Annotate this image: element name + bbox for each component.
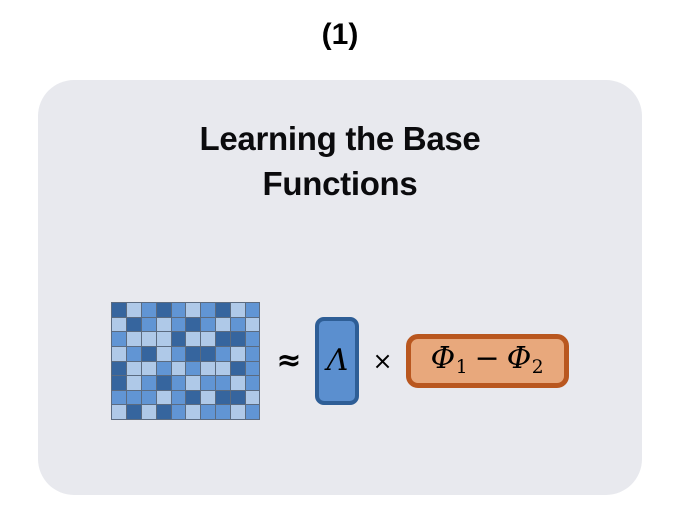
heatmap-cell [142, 347, 156, 361]
heatmap-cell [216, 405, 230, 419]
heatmap-cell [246, 405, 260, 419]
heatmap-cell [172, 362, 186, 376]
heatmap-cell [246, 303, 260, 317]
figure-number-label: (1) [0, 20, 680, 50]
heatmap-cell [142, 332, 156, 346]
heatmap-cell [142, 362, 156, 376]
heatmap-cell [186, 332, 200, 346]
heatmap-cell [142, 391, 156, 405]
heatmap-cell [112, 362, 126, 376]
lambda-matrix-box: Λ [315, 317, 359, 405]
heatmap-cell [127, 303, 141, 317]
heatmap-cell [246, 347, 260, 361]
heatmap-cell [186, 362, 200, 376]
heatmap-cell [112, 318, 126, 332]
heatmap-cell [201, 391, 215, 405]
heatmap-cell [231, 391, 245, 405]
heatmap-cell [172, 318, 186, 332]
heatmap-cell [246, 362, 260, 376]
heatmap-cell [216, 362, 230, 376]
heatmap-cell [172, 405, 186, 419]
heatmap-cell [142, 376, 156, 390]
heatmap-cell [246, 391, 260, 405]
phi-first-symbol: Φ [431, 341, 456, 376]
heatmap-cell [186, 347, 200, 361]
heatmap-cell [142, 318, 156, 332]
heatmap-cell [186, 391, 200, 405]
heatmap-cell [172, 332, 186, 346]
heatmap-cell [246, 376, 260, 390]
heatmap-cell [201, 376, 215, 390]
heatmap-cell [231, 347, 245, 361]
heatmap-cell [201, 405, 215, 419]
panel-title: Learning the Base Functions [38, 117, 642, 206]
heatmap-cell [157, 376, 171, 390]
heatmap-cell [112, 405, 126, 419]
heatmap-cell [127, 347, 141, 361]
panel-title-line-1: Learning the Base [38, 117, 642, 162]
heatmap-cell [246, 318, 260, 332]
heatmap-cell [157, 362, 171, 376]
heatmap-cell [127, 332, 141, 346]
heatmap-cell [246, 332, 260, 346]
factorization-equation: ≈ Λ × Φ1−Φ2 [38, 296, 642, 426]
heatmap-cell [142, 303, 156, 317]
heatmap-cell [201, 347, 215, 361]
heatmap-cell [231, 318, 245, 332]
heatmap-cell [127, 405, 141, 419]
heatmap-cell [216, 347, 230, 361]
phi-basis-box: Φ1−Φ2 [406, 334, 569, 388]
heatmap-cell [186, 318, 200, 332]
heatmap-cell [112, 391, 126, 405]
heatmap-cell [201, 362, 215, 376]
heatmap-cell [186, 405, 200, 419]
minus-icon: − [475, 341, 500, 376]
base-functions-panel: Learning the Base Functions ≈ Λ × Φ1−Φ2 [38, 80, 642, 495]
approximately-equal-icon: ≈ [276, 346, 301, 376]
heatmap-cell [157, 391, 171, 405]
heatmap-cell [112, 376, 126, 390]
heatmap-cell [186, 376, 200, 390]
heatmap-cell [127, 391, 141, 405]
heatmap-cell [157, 347, 171, 361]
heatmap-cell [216, 318, 230, 332]
phi-expression: Φ1−Φ2 [431, 344, 544, 378]
heatmap-cell [127, 318, 141, 332]
heatmap-cell [231, 332, 245, 346]
heatmap-cell [216, 332, 230, 346]
phi-second-symbol: Φ [507, 341, 532, 376]
heatmap-cell [172, 391, 186, 405]
heatmap-cell [112, 303, 126, 317]
heatmap-cell [112, 347, 126, 361]
phi-first-subscript: 1 [456, 357, 468, 378]
heatmap-cell [127, 376, 141, 390]
heatmap-cell [216, 391, 230, 405]
heatmap-cell [157, 303, 171, 317]
heatmap-cell [231, 362, 245, 376]
heatmap-cell [142, 405, 156, 419]
heatmap-cell [157, 318, 171, 332]
heatmap-cell [216, 376, 230, 390]
heatmap-cell [157, 332, 171, 346]
heatmap-cell [172, 376, 186, 390]
phi-second-subscript: 2 [532, 357, 544, 378]
heatmap-cell [231, 303, 245, 317]
heatmap-cell [157, 405, 171, 419]
heatmap-cell [231, 405, 245, 419]
heatmap-cell [172, 303, 186, 317]
panel-title-line-2: Functions [38, 162, 642, 207]
data-matrix-heatmap [111, 302, 260, 420]
heatmap-cell [201, 332, 215, 346]
heatmap-cell [216, 303, 230, 317]
heatmap-cell [186, 303, 200, 317]
lambda-symbol: Λ [327, 346, 349, 376]
heatmap-cell [201, 303, 215, 317]
figure-root: (1) Learning the Base Functions ≈ Λ × Φ1… [0, 0, 680, 522]
heatmap-cell [127, 362, 141, 376]
multiplication-icon: × [372, 349, 392, 373]
heatmap-cell [172, 347, 186, 361]
heatmap-cell [231, 376, 245, 390]
heatmap-cell [201, 318, 215, 332]
heatmap-cell [112, 332, 126, 346]
